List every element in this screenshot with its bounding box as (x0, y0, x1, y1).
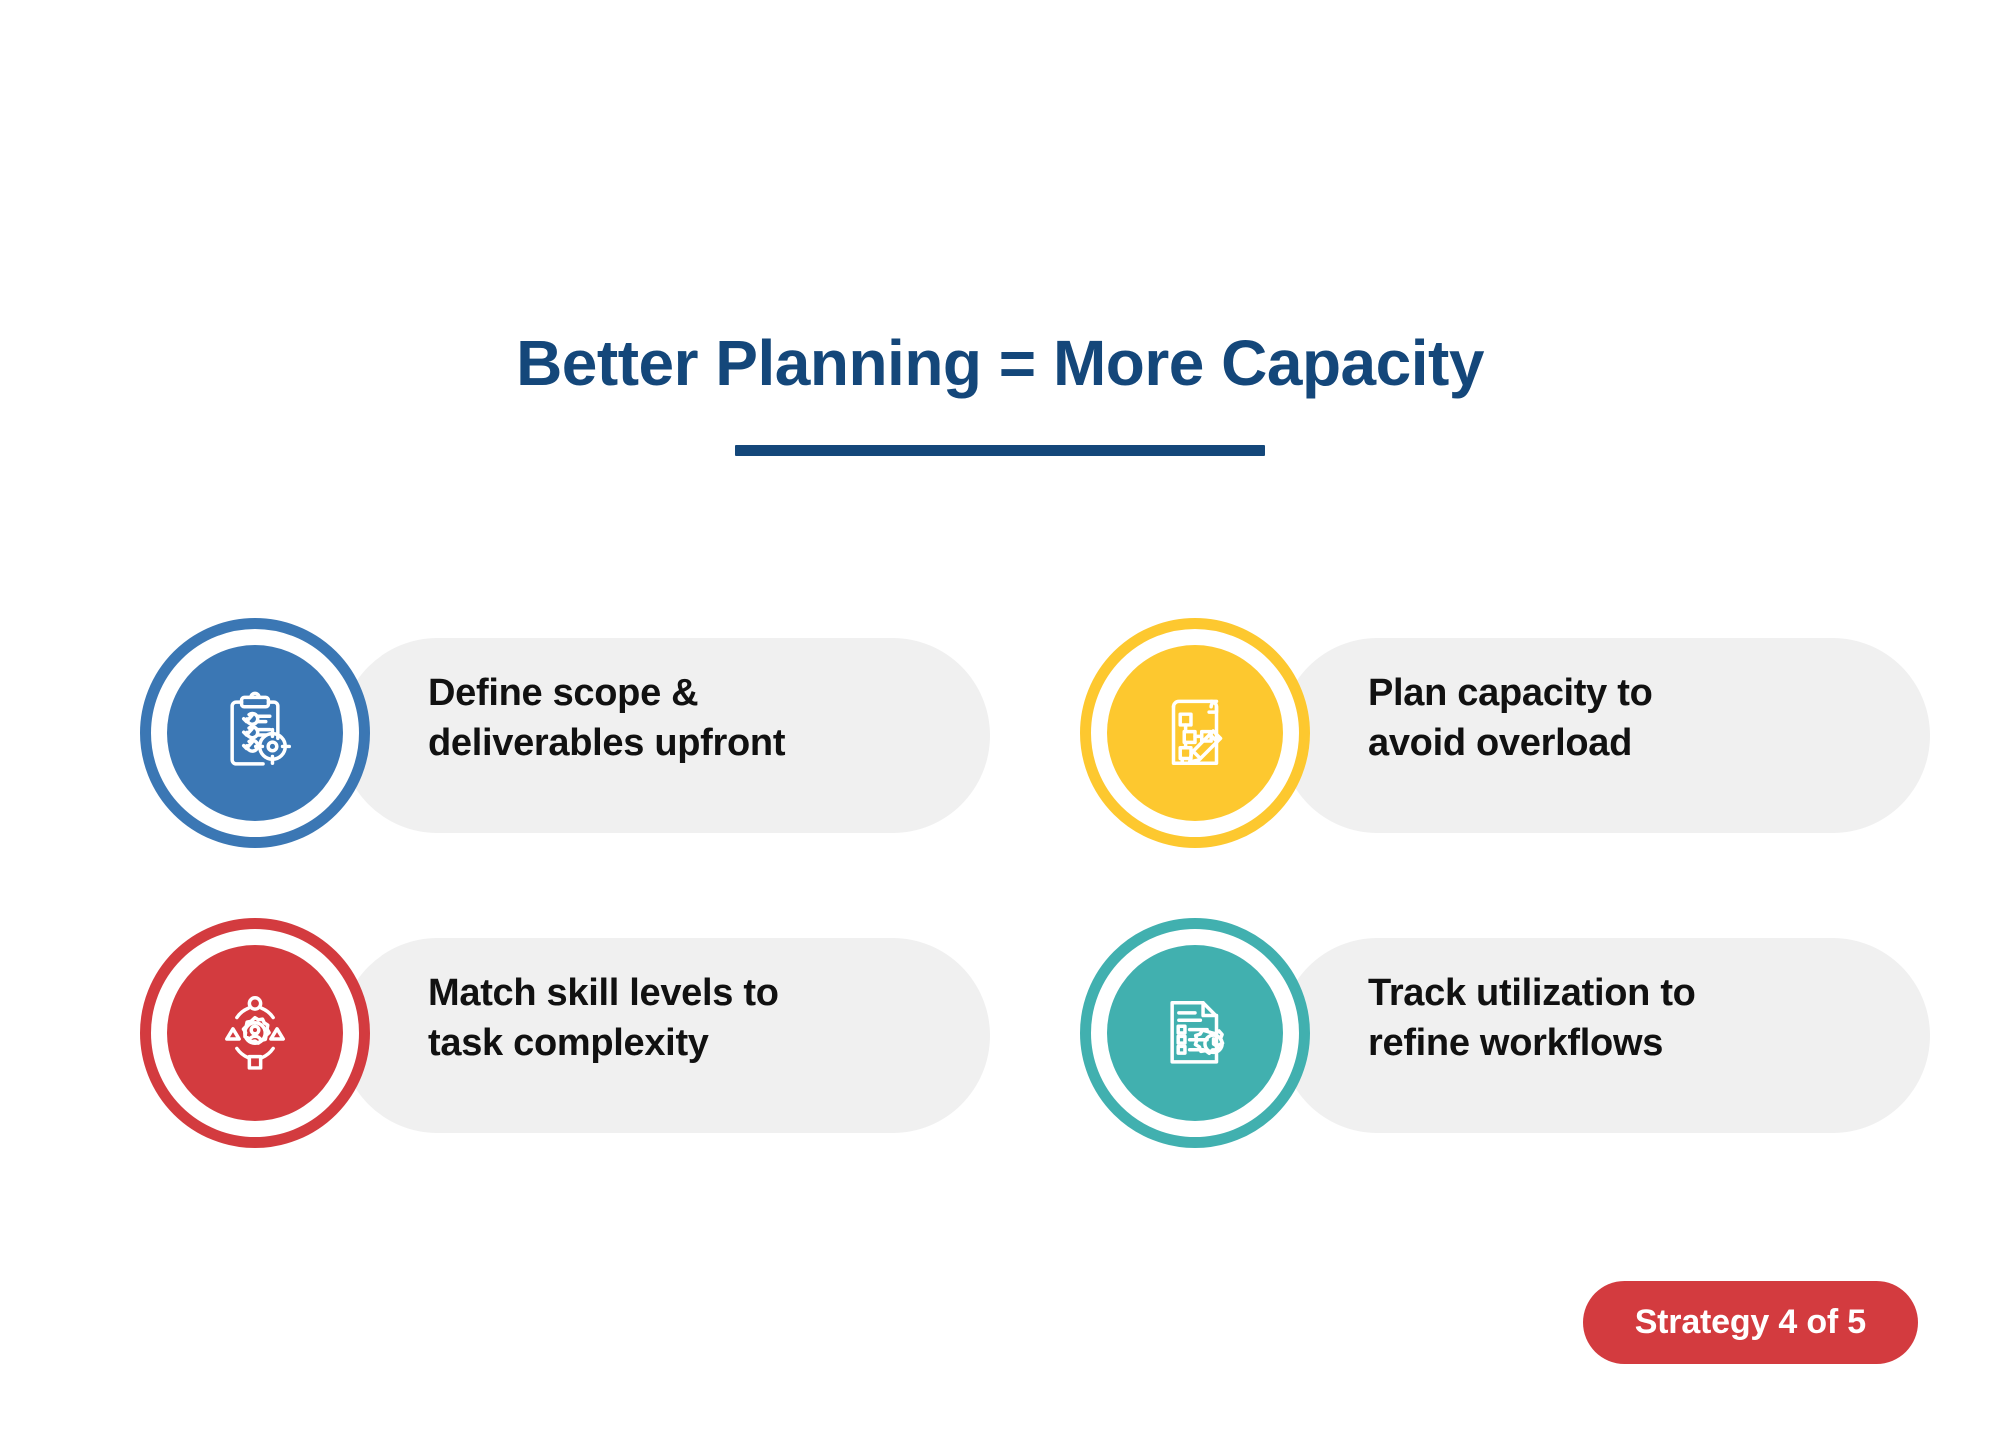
blueprint-pencil-icon (1152, 690, 1238, 776)
card-text-line-2: deliverables upfront (428, 718, 968, 768)
card-icon-ring (140, 618, 370, 848)
card-icon-disc (1107, 945, 1283, 1121)
card-text-line-2: task complexity (428, 1018, 968, 1068)
page-title: Better Planning = More Capacity (0, 330, 2000, 397)
strategy-card[interactable]: Define scope & deliverables upfront (140, 618, 1080, 878)
card-icon-disc (167, 945, 343, 1121)
strategy-card[interactable]: Track utilization to refine workflows (1080, 918, 2000, 1178)
clipboard-checklist-target-icon (212, 690, 298, 776)
strategy-card[interactable]: Match skill levels to task complexity (140, 918, 1080, 1178)
title-underline-rule (735, 445, 1265, 456)
card-text-line-2: refine workflows (1368, 1018, 1908, 1068)
status-badge: Strategy 4 of 5 (1583, 1281, 1918, 1364)
card-text: Match skill levels to task complexity (428, 968, 968, 1068)
person-gear-shapes-icon (212, 990, 298, 1076)
slide-canvas: Better Planning = More Capacity (0, 0, 2000, 1434)
card-text-line-1: Plan capacity to (1368, 668, 1908, 718)
card-text: Track utilization to refine workflows (1368, 968, 1908, 1068)
strategy-card[interactable]: Plan capacity to avoid overload (1080, 618, 2000, 878)
card-text-line-1: Track utilization to (1368, 968, 1908, 1018)
header: Better Planning = More Capacity (0, 330, 2000, 456)
document-list-clock-gear-icon (1152, 990, 1238, 1076)
card-icon-ring (140, 918, 370, 1148)
strategy-card-grid: Define scope & deliverables upfront (140, 618, 1940, 1218)
card-icon-disc (1107, 645, 1283, 821)
card-text-line-2: avoid overload (1368, 718, 1908, 768)
card-text: Define scope & deliverables upfront (428, 668, 968, 768)
card-icon-disc (167, 645, 343, 821)
card-text-line-1: Match skill levels to (428, 968, 968, 1018)
card-text: Plan capacity to avoid overload (1368, 668, 1908, 768)
card-icon-ring (1080, 918, 1310, 1148)
card-text-line-1: Define scope & (428, 668, 968, 718)
card-icon-ring (1080, 618, 1310, 848)
